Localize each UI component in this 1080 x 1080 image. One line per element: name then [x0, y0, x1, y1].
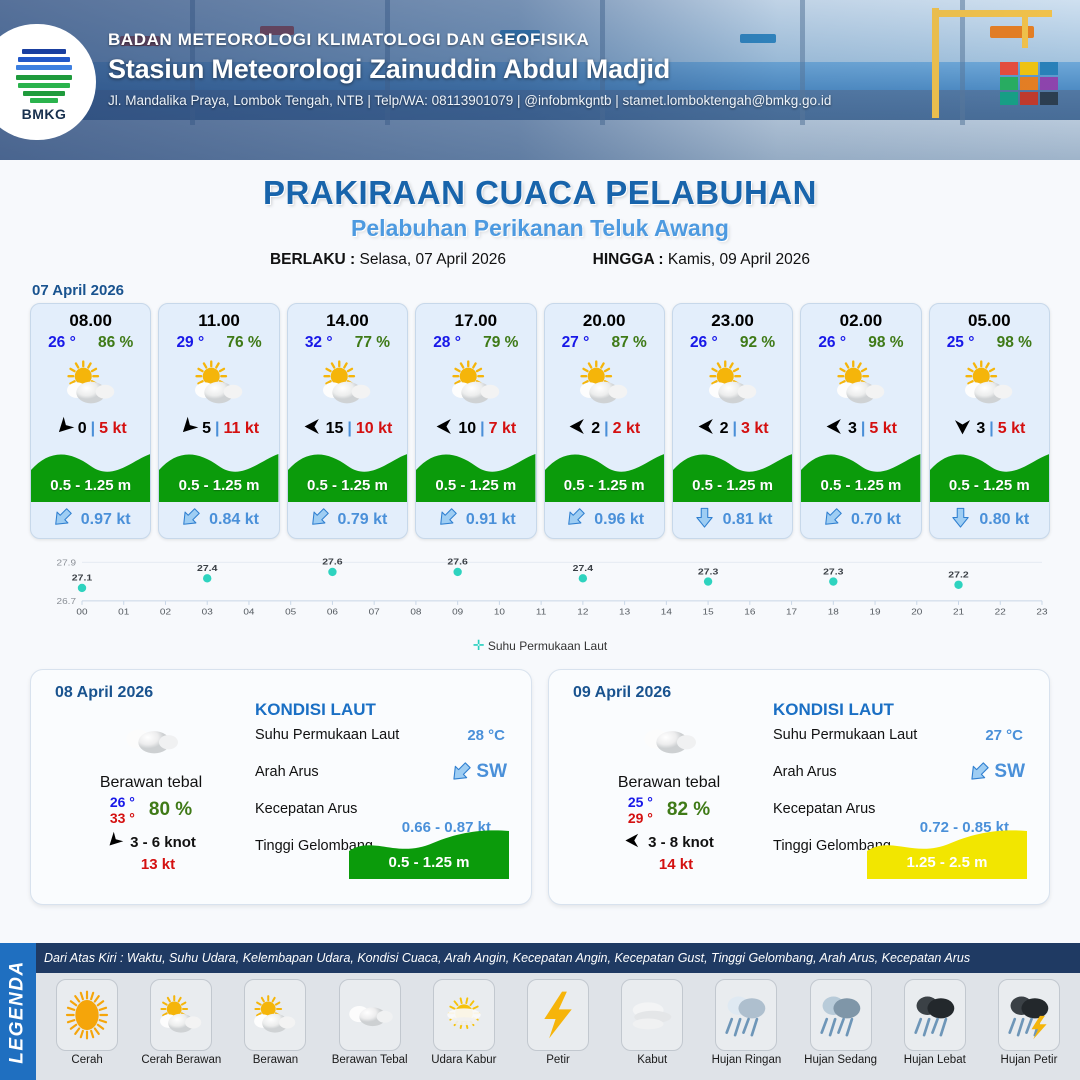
wind-separator: |: [91, 420, 95, 438]
current-direction-arrow-icon: [308, 506, 331, 534]
daily-gust: 13 kt: [51, 856, 251, 873]
card-gust: 5 kt: [869, 420, 897, 438]
legend-tab-label: LEGENDA: [7, 960, 29, 1063]
svg-text:03: 03: [202, 607, 213, 616]
card-time: 20.00: [545, 304, 664, 331]
wind-separator: |: [861, 420, 865, 438]
card-wind-speed: 5: [202, 420, 211, 438]
daily-wind-range: 3 - 8 knot: [648, 834, 714, 851]
svg-text:15: 15: [703, 607, 714, 616]
sea-row-label: Suhu Permukaan Laut: [773, 727, 917, 743]
card-current-speed: 0.91 kt: [466, 511, 516, 529]
card-gust: 3 kt: [741, 420, 769, 438]
card-time: 05.00: [930, 304, 1049, 331]
hourly-card: 23.00 26 ° 92 % 2 | 3 kt 0.5 - 1.25 m: [672, 303, 793, 539]
legend-item: Hujan Petir: [982, 979, 1076, 1066]
daily-temp-max: 29 °: [628, 810, 653, 826]
legend-item-label: Udara Kabur: [431, 1054, 496, 1066]
wind-direction-arrow-icon: [825, 417, 844, 441]
daily-wave-graphic: 1.25 - 2.5 m: [867, 825, 1027, 879]
daily-temp-min: 25 °: [628, 794, 653, 810]
card-temperature: 25 °: [947, 334, 975, 352]
sea-row-current-direction: Arah Arus SW: [255, 762, 517, 799]
hourly-card: 20.00 27 ° 87 % 2 | 2 kt 0.5 - 1.25 m: [544, 303, 665, 539]
legend-item-label: Cerah: [71, 1054, 102, 1066]
sea-row-sst: Suhu Permukaan Laut 27 °C: [773, 725, 1035, 762]
svg-text:22: 22: [995, 607, 1006, 616]
card-wave-height: 0.5 - 1.25 m: [673, 477, 792, 494]
daily-gust: 14 kt: [569, 856, 769, 873]
daily-wind-range: 3 - 6 knot: [130, 834, 196, 851]
legend-item-label: Petir: [546, 1054, 570, 1066]
wind-separator: |: [480, 420, 484, 438]
chart-legend: ✛ Suhu Permukaan Laut: [30, 637, 1050, 654]
validity-range: BERLAKU : Selasa, 07 April 2026 HINGGA :…: [0, 251, 1080, 269]
wind-direction-arrow-icon: [435, 417, 454, 441]
heavy-rain-icon: [904, 979, 966, 1051]
legend-item-label: Cerah Berawan: [141, 1054, 221, 1066]
sun-cloud-icon: [159, 352, 278, 414]
daily-humidity: 80 %: [149, 799, 192, 821]
sea-row-label: Kecepatan Arus: [255, 801, 357, 817]
card-time: 02.00: [801, 304, 920, 331]
svg-text:27.4: 27.4: [197, 564, 218, 574]
card-wind: 0 | 5 kt: [31, 414, 150, 444]
sun-cloud-more-icon: [244, 979, 306, 1051]
wind-direction-arrow-icon: [697, 417, 716, 441]
daily-forecast-row: 08 April 2026 Berawan tebal 26 ° 33 ° 80…: [0, 661, 1080, 905]
svg-text:08: 08: [410, 607, 421, 616]
bmkg-logo-mark: [13, 43, 75, 105]
legend-item: Hujan Sedang: [794, 979, 888, 1066]
agency-name: BADAN METEOROLOGI KLIMATOLOGI DAN GEOFIS…: [108, 30, 831, 50]
valid-from-value: Selasa, 07 April 2026: [360, 251, 507, 268]
card-gust: 11 kt: [223, 420, 259, 438]
card-current-speed: 0.84 kt: [209, 511, 259, 529]
card-wind-speed: 10: [458, 420, 476, 438]
svg-text:17: 17: [786, 607, 797, 616]
card-wind-speed: 0: [78, 420, 87, 438]
chart-legend-marker-icon: ✛: [473, 637, 485, 653]
legend-item: Hujan Ringan: [699, 979, 793, 1066]
legend-bar: LEGENDA Dari Atas Kiri : Waktu, Suhu Uda…: [0, 943, 1080, 1080]
svg-text:14: 14: [661, 607, 672, 616]
card-time: 17.00: [416, 304, 535, 331]
card-humidity: 87 %: [611, 334, 646, 352]
station-name: Stasiun Meteorologi Zainuddin Abdul Madj…: [108, 54, 831, 85]
card-wind: 2 | 2 kt: [545, 414, 664, 444]
current-direction-arrow-icon: [821, 506, 844, 534]
card-wave-height: 0.5 - 1.25 m: [288, 477, 407, 494]
sun-cloud-icon: [150, 979, 212, 1051]
card-humidity: 98 %: [868, 334, 903, 352]
legend-item: Hujan Lebat: [888, 979, 982, 1066]
svg-text:00: 00: [76, 607, 87, 616]
sea-row-value: SW: [476, 761, 507, 783]
sun-cloud-icon: [545, 352, 664, 414]
hourly-card: 08.00 26 ° 86 % 0 | 5 kt 0.5 - 1.25 m: [30, 303, 151, 539]
sun-cloud-icon: [288, 352, 407, 414]
daily-temps: 26 ° 33 ° 80 %: [51, 794, 251, 826]
sea-row-label: Arah Arus: [773, 764, 837, 780]
wind-direction-arrow-icon: [624, 832, 641, 853]
card-current: 0.70 kt: [801, 502, 920, 538]
daily-forecast-panel: 09 April 2026 Berawan tebal 25 ° 29 ° 82…: [548, 669, 1050, 905]
sea-conditions: KONDISI LAUT Suhu Permukaan Laut 27 °C A…: [773, 700, 1035, 873]
daily-wind: 3 - 6 knot: [51, 832, 251, 853]
svg-text:19: 19: [869, 607, 880, 616]
card-wind: 15 | 10 kt: [288, 414, 407, 444]
svg-text:01: 01: [118, 607, 129, 616]
sea-row-current-direction: Arah Arus SW: [773, 762, 1035, 799]
card-humidity: 92 %: [740, 334, 775, 352]
card-temperature: 26 °: [48, 334, 76, 352]
card-temperature: 27 °: [562, 334, 590, 352]
current-direction-arrow-icon: [949, 506, 972, 534]
wind-direction-arrow-icon: [179, 417, 198, 441]
hourly-card: 11.00 29 ° 76 % 5 | 11 kt 0.5 - 1.25: [158, 303, 279, 539]
daily-temp-max: 33 °: [110, 810, 135, 826]
card-gust: 5 kt: [99, 420, 127, 438]
title-block: PRAKIRAAN CUACA PELABUHAN Pelabuhan Peri…: [0, 160, 1080, 269]
sun-icon: [56, 979, 118, 1051]
card-wave: 0.5 - 1.25 m: [288, 444, 407, 502]
hourly-card: 17.00 28 ° 79 % 10 | 7 kt 0.5 - 1.25: [415, 303, 536, 539]
card-wave: 0.5 - 1.25 m: [801, 444, 920, 502]
daily-humidity: 82 %: [667, 799, 710, 821]
wind-direction-arrow-icon: [106, 832, 123, 853]
svg-text:16: 16: [744, 607, 755, 616]
svg-text:27.3: 27.3: [823, 567, 843, 577]
card-wave: 0.5 - 1.25 m: [159, 444, 278, 502]
legend-item: Berawan: [228, 979, 322, 1066]
lightning-icon: [527, 979, 589, 1051]
legend-item-label: Hujan Ringan: [712, 1054, 782, 1066]
sun-cloud-icon: [416, 352, 535, 414]
card-wave: 0.5 - 1.25 m: [930, 444, 1049, 502]
current-direction-arrow-icon: [693, 506, 716, 534]
card-current-speed: 0.80 kt: [979, 511, 1029, 529]
svg-text:13: 13: [619, 607, 630, 616]
card-current: 0.96 kt: [545, 502, 664, 538]
card-humidity: 86 %: [98, 334, 133, 352]
sun-cloud-icon: [673, 352, 792, 414]
card-wave-height: 0.5 - 1.25 m: [31, 477, 150, 494]
sun-cloud-icon: [801, 352, 920, 414]
card-wave-height: 0.5 - 1.25 m: [416, 477, 535, 494]
card-temperature: 29 °: [176, 334, 204, 352]
card-time: 11.00: [159, 304, 278, 331]
card-wind: 5 | 11 kt: [159, 414, 278, 444]
legend-item-label: Hujan Petir: [1001, 1054, 1058, 1066]
valid-to-value: Kamis, 09 April 2026: [668, 251, 810, 268]
sea-row-label: Suhu Permukaan Laut: [255, 727, 399, 743]
daily-left-block: Berawan tebal 25 ° 29 ° 82 % 3 - 8 knot …: [569, 712, 769, 873]
page-subtitle: Pelabuhan Perikanan Teluk Awang: [0, 215, 1080, 242]
legend-item: Cerah Berawan: [134, 979, 228, 1066]
contact-line: Jl. Mandalika Praya, Lombok Tengah, NTB …: [108, 93, 831, 108]
daily-temp-min: 26 °: [110, 794, 135, 810]
current-direction-arrow-icon: [51, 506, 74, 534]
card-temperature: 26 °: [818, 334, 846, 352]
card-time: 23.00: [673, 304, 792, 331]
svg-text:09: 09: [452, 607, 463, 616]
card-temperature: 32 °: [305, 334, 333, 352]
card-temperature: 26 °: [690, 334, 718, 352]
card-wind: 2 | 3 kt: [673, 414, 792, 444]
hourly-date-label: 07 April 2026: [32, 282, 1080, 299]
daily-wind: 3 - 8 knot: [569, 832, 769, 853]
svg-text:20: 20: [911, 607, 922, 616]
card-wind-speed: 2: [591, 420, 600, 438]
svg-text:07: 07: [369, 607, 380, 616]
card-wind-speed: 15: [326, 420, 344, 438]
card-current-speed: 0.96 kt: [594, 511, 644, 529]
sea-row-value: 27 °C: [985, 727, 1023, 744]
sea-conditions: KONDISI LAUT Suhu Permukaan Laut 28 °C A…: [255, 700, 517, 873]
legend-item: Kabut: [605, 979, 699, 1066]
wind-separator: |: [732, 420, 736, 438]
sun-cloud-icon: [31, 352, 150, 414]
svg-text:27.3: 27.3: [698, 567, 718, 577]
wind-direction-arrow-icon: [303, 417, 322, 441]
wind-separator: |: [989, 420, 993, 438]
daily-condition: Berawan tebal: [51, 774, 251, 792]
haze-icon: [433, 979, 495, 1051]
wind-direction-arrow-icon: [568, 417, 587, 441]
daily-date: 08 April 2026: [55, 684, 153, 702]
hourly-card: 14.00 32 ° 77 % 15 | 10 kt 0.5 - 1.25: [287, 303, 408, 539]
legend-item-label: Hujan Lebat: [904, 1054, 966, 1066]
card-gust: 7 kt: [489, 420, 517, 438]
card-wave-height: 0.5 - 1.25 m: [159, 477, 278, 494]
light-rain-icon: [715, 979, 777, 1051]
sun-cloud-icon: [930, 352, 1049, 414]
legend-item-label: Berawan: [253, 1054, 298, 1066]
hourly-forecast-row: 08.00 26 ° 86 % 0 | 5 kt 0.5 - 1.25 m: [0, 303, 1080, 539]
moderate-rain-icon: [810, 979, 872, 1051]
card-wave: 0.5 - 1.25 m: [673, 444, 792, 502]
hourly-card: 05.00 25 ° 98 % 3 | 5 kt 0.5 - 1.25 m: [929, 303, 1050, 539]
card-wind: 3 | 5 kt: [930, 414, 1049, 444]
page-title: PRAKIRAAN CUACA PELABUHAN: [0, 174, 1080, 212]
card-wind: 3 | 5 kt: [801, 414, 920, 444]
card-wave: 0.5 - 1.25 m: [31, 444, 150, 502]
current-direction-arrow-icon: [436, 506, 459, 534]
svg-text:26.7: 26.7: [57, 597, 76, 606]
daily-temps: 25 ° 29 ° 82 %: [569, 794, 769, 826]
wind-separator: |: [347, 420, 351, 438]
svg-text:27.4: 27.4: [573, 564, 594, 574]
hourly-card: 02.00 26 ° 98 % 3 | 5 kt 0.5 - 1.25 m: [800, 303, 921, 539]
sea-row-sst: Suhu Permukaan Laut 28 °C: [255, 725, 517, 762]
legend-items: Cerah Cerah Berawan Berawan: [36, 973, 1080, 1080]
sea-row-value: 28 °C: [467, 727, 505, 744]
card-gust: 5 kt: [998, 420, 1026, 438]
card-wind-speed: 3: [848, 420, 857, 438]
card-wave-height: 0.5 - 1.25 m: [545, 477, 664, 494]
card-current-speed: 0.97 kt: [81, 511, 131, 529]
card-wave: 0.5 - 1.25 m: [416, 444, 535, 502]
svg-text:10: 10: [494, 607, 505, 616]
legend-item-label: Kabut: [637, 1054, 667, 1066]
card-current-speed: 0.70 kt: [851, 511, 901, 529]
svg-text:27.6: 27.6: [322, 558, 342, 568]
svg-text:12: 12: [577, 607, 588, 616]
daily-condition: Berawan tebal: [569, 774, 769, 792]
valid-from-label: BERLAKU :: [270, 251, 355, 268]
sea-conditions-title: KONDISI LAUT: [255, 700, 517, 720]
legend-item: Petir: [511, 979, 605, 1066]
svg-text:11: 11: [536, 607, 546, 616]
daily-wave-height: 1.25 - 2.5 m: [867, 854, 1027, 871]
legend-item-label: Hujan Sedang: [804, 1054, 877, 1066]
svg-text:05: 05: [285, 607, 296, 616]
thunderstorm-rain-icon: [998, 979, 1060, 1051]
svg-text:06: 06: [327, 607, 338, 616]
card-time: 08.00: [31, 304, 150, 331]
sea-row-label: Arah Arus: [255, 764, 319, 780]
card-wave-height: 0.5 - 1.25 m: [801, 477, 920, 494]
svg-text:21: 21: [953, 607, 964, 616]
legend-item: Cerah: [40, 979, 134, 1066]
daily-wave-graphic: 0.5 - 1.25 m: [349, 825, 509, 879]
card-gust: 10 kt: [356, 420, 392, 438]
daily-forecast-panel: 08 April 2026 Berawan tebal 26 ° 33 ° 80…: [30, 669, 532, 905]
cloud-icon: [51, 712, 251, 768]
card-wave: 0.5 - 1.25 m: [545, 444, 664, 502]
legend-item: Udara Kabur: [417, 979, 511, 1066]
card-wave-height: 0.5 - 1.25 m: [930, 477, 1049, 494]
svg-text:27.6: 27.6: [447, 558, 467, 568]
svg-text:27.2: 27.2: [948, 570, 968, 580]
sst-chart: 27.926.700010203040506070809101112131415…: [30, 551, 1050, 661]
sst-chart-svg: 27.926.700010203040506070809101112131415…: [30, 551, 1050, 633]
current-direction-indicator: SW: [449, 760, 507, 784]
card-wind: 10 | 7 kt: [416, 414, 535, 444]
current-direction-arrow-icon: [564, 506, 587, 534]
cloud-icon: [569, 712, 769, 768]
svg-text:04: 04: [243, 607, 254, 616]
wind-separator: |: [604, 420, 608, 438]
card-current: 0.81 kt: [673, 502, 792, 538]
svg-text:27.9: 27.9: [57, 558, 76, 567]
wind-direction-arrow-icon: [55, 417, 74, 441]
page-header: BMKG BADAN METEOROLOGI KLIMATOLOGI DAN G…: [0, 0, 1080, 160]
card-current-speed: 0.81 kt: [723, 511, 773, 529]
card-wind-speed: 2: [720, 420, 729, 438]
fog-icon: [621, 979, 683, 1051]
daily-wave-height: 0.5 - 1.25 m: [349, 854, 509, 871]
daily-left-block: Berawan tebal 26 ° 33 ° 80 % 3 - 6 knot …: [51, 712, 251, 873]
card-humidity: 98 %: [997, 334, 1032, 352]
sea-row-label: Kecepatan Arus: [773, 801, 875, 817]
daily-date: 09 April 2026: [573, 684, 671, 702]
header-text-block: BADAN METEOROLOGI KLIMATOLOGI DAN GEOFIS…: [108, 30, 831, 108]
chart-legend-label: Suhu Permukaan Laut: [488, 639, 607, 653]
card-humidity: 79 %: [483, 334, 518, 352]
current-direction-arrow-icon: [179, 506, 202, 534]
cloud-icon: [339, 979, 401, 1051]
card-current: 0.91 kt: [416, 502, 535, 538]
legend-item: Berawan Tebal: [323, 979, 417, 1066]
card-humidity: 77 %: [355, 334, 390, 352]
sea-conditions-title: KONDISI LAUT: [773, 700, 1035, 720]
legend-item-label: Berawan Tebal: [332, 1054, 408, 1066]
wind-separator: |: [215, 420, 219, 438]
svg-text:18: 18: [828, 607, 839, 616]
bmkg-logo-text: BMKG: [22, 106, 67, 122]
card-current: 0.84 kt: [159, 502, 278, 538]
wind-direction-arrow-icon: [953, 417, 972, 441]
svg-text:27.1: 27.1: [72, 574, 93, 584]
card-temperature: 28 °: [433, 334, 461, 352]
svg-text:23: 23: [1036, 607, 1047, 616]
legend-note: Dari Atas Kiri : Waktu, Suhu Udara, Kele…: [44, 951, 970, 965]
sea-row-value: SW: [994, 761, 1025, 783]
card-current: 0.80 kt: [930, 502, 1049, 538]
card-humidity: 76 %: [226, 334, 261, 352]
card-current: 0.97 kt: [31, 502, 150, 538]
card-time: 14.00: [288, 304, 407, 331]
legend-tab: LEGENDA: [0, 943, 36, 1080]
current-direction-indicator: SW: [967, 760, 1025, 784]
card-wind-speed: 3: [976, 420, 985, 438]
svg-text:02: 02: [160, 607, 171, 616]
card-current: 0.79 kt: [288, 502, 407, 538]
card-current-speed: 0.79 kt: [338, 511, 388, 529]
card-gust: 2 kt: [613, 420, 641, 438]
valid-to-label: HINGGA :: [593, 251, 664, 268]
